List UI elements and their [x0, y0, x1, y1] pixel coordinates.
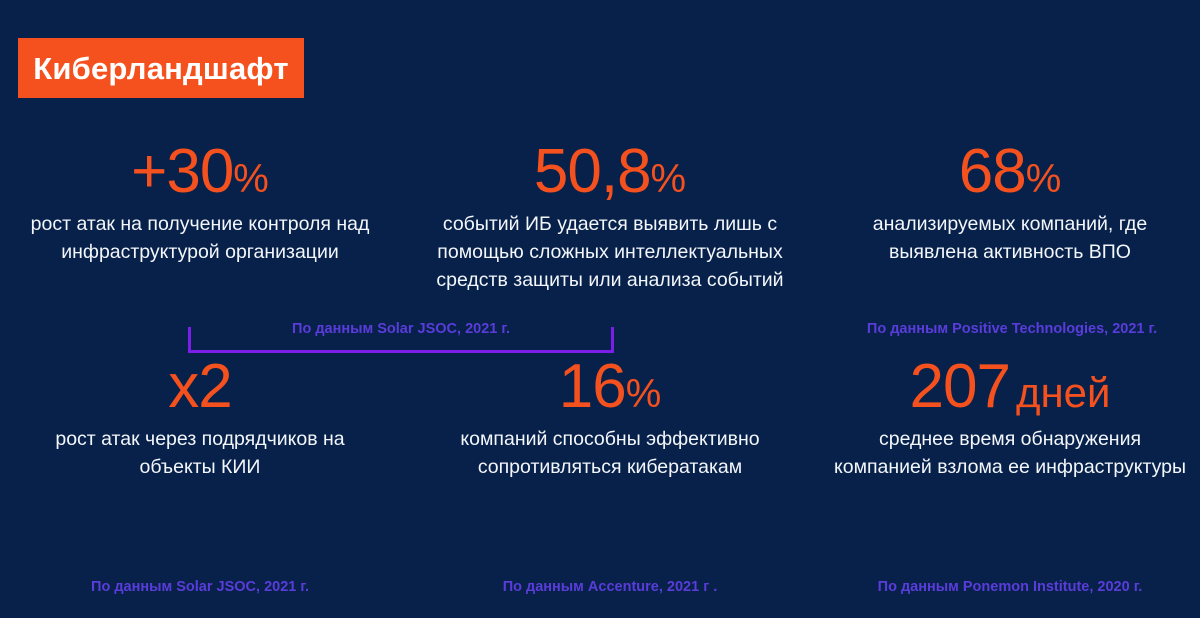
source-bracket-connector	[188, 327, 614, 353]
stat-unit: %	[626, 372, 662, 416]
slide: Киберландшафт +30% рост атак на получени…	[0, 0, 1200, 618]
sources-row-bottom: По данным Solar JSOC, 2021 г. По данным …	[0, 578, 1200, 596]
stat-unit: %	[1026, 157, 1062, 201]
stat-number-text: 16	[559, 352, 626, 421]
stats-row-bottom: x2 рост атак через подрядчиков на объект…	[0, 355, 1200, 570]
stat-number-text: x2	[168, 352, 231, 421]
stat-description: рост атак через подрядчиков на объекты К…	[26, 426, 374, 481]
stat-number-text: 50,8	[534, 137, 651, 206]
stat-value: 16%	[559, 355, 662, 418]
source-caption-bottom-center-wrap: По данным Accenture, 2021 г .	[400, 578, 820, 596]
stat-number-text: 68	[959, 137, 1026, 206]
source-caption-top-right: По данным Positive Technologies, 2021 г.	[832, 321, 1192, 338]
page-title: Киберландшафт	[33, 53, 288, 84]
stat-card-breach-detection-time: 207дней среднее время обнаружения компан…	[820, 355, 1200, 570]
stat-value: x2	[168, 355, 231, 418]
stat-description: анализируемых компаний, где выявлена акт…	[828, 211, 1192, 266]
source-caption-bottom-right-wrap: По данным Ponemon Institute, 2020 г.	[820, 578, 1200, 596]
source-caption-bottom-right: По данным Ponemon Institute, 2020 г.	[878, 579, 1143, 595]
stat-number-text: 207	[910, 352, 1010, 421]
stat-unit: %	[233, 157, 269, 201]
stat-value: +30%	[131, 140, 269, 203]
source-caption-bottom-center: По данным Accenture, 2021 г .	[503, 579, 718, 595]
stat-card-resilient-companies: 16% компаний способны эффективно сопроти…	[400, 355, 820, 570]
stat-value: 50,8%	[534, 140, 686, 203]
stat-unit: %	[651, 157, 687, 201]
stat-number-text: +30	[131, 137, 233, 206]
stat-description: среднее время обнаружения компанией взло…	[828, 426, 1192, 481]
stat-description: компаний способны эффективно сопротивлят…	[408, 426, 812, 481]
slide-title-badge: Киберландшафт	[18, 38, 304, 98]
stats-grid: +30% рост атак на получение контроля над…	[0, 140, 1200, 570]
source-caption-bottom-left-wrap: По данным Solar JSOC, 2021 г.	[0, 578, 400, 596]
source-caption-bottom-left: По данным Solar JSOC, 2021 г.	[91, 579, 309, 595]
stat-unit: дней	[1016, 369, 1111, 416]
stat-description: рост атак на получение контроля над инфр…	[26, 211, 374, 266]
stat-value: 207дней	[910, 355, 1111, 418]
stat-card-contractor-attacks: x2 рост атак через подрядчиков на объект…	[0, 355, 400, 570]
stat-value: 68%	[959, 140, 1062, 203]
stat-description: событий ИБ удается выявить лишь с помощь…	[408, 211, 812, 294]
